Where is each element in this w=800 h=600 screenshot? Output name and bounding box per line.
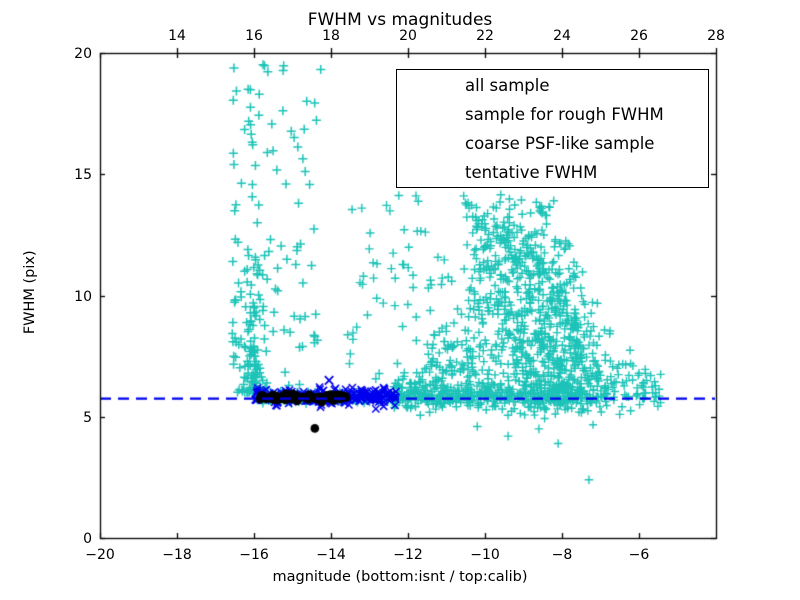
legend-row[interactable]: tentative FWHM [397,159,710,188]
top-x-tick-label: 22 [455,29,515,43]
top-x-tick-label: 20 [378,29,438,43]
x-tick-label: −12 [378,548,438,562]
y-tick-label: 15 [32,168,92,182]
legend-row[interactable]: coarse PSF-like sample [397,130,710,159]
legend-row[interactable]: all sample [397,72,710,101]
x-tick-label: −10 [455,548,515,562]
x-tick-label: −8 [532,548,592,562]
top-x-tick-label: 28 [686,29,746,43]
legend[interactable]: all sample sample for rough FWHM coarse … [396,69,709,188]
figure-container: FWHM vs magnitudes magnitude (bottom:isn… [0,0,800,600]
top-x-tick-label: 24 [532,29,592,43]
legend-label-rough-fwhm: sample for rough FWHM [465,105,664,124]
y-tick-label: 10 [32,290,92,304]
legend-label-coarse-psf: coarse PSF-like sample [465,134,654,153]
legend-row[interactable]: sample for rough FWHM [397,101,710,130]
page-title: FWHM vs magnitudes [0,12,800,29]
x-tick-label: −14 [301,548,361,562]
y-tick-label: 20 [32,47,92,61]
legend-label-tentative-fwhm: tentative FWHM [465,163,597,182]
x-tick-label: −20 [70,548,130,562]
x-tick-label: −6 [609,548,669,562]
top-x-tick-label: 16 [224,29,284,43]
x-tick-label: −18 [147,548,207,562]
top-x-tick-label: 18 [301,29,361,43]
y-tick-label: 5 [32,411,92,425]
top-x-tick-label: 26 [609,29,669,43]
legend-label-all-sample: all sample [465,76,550,95]
x-tick-label: −16 [224,548,284,562]
top-x-tick-label: 14 [147,29,207,43]
x-axis-label: magnitude (bottom:isnt / top:calib) [0,570,800,585]
y-tick-label: 0 [32,532,92,546]
